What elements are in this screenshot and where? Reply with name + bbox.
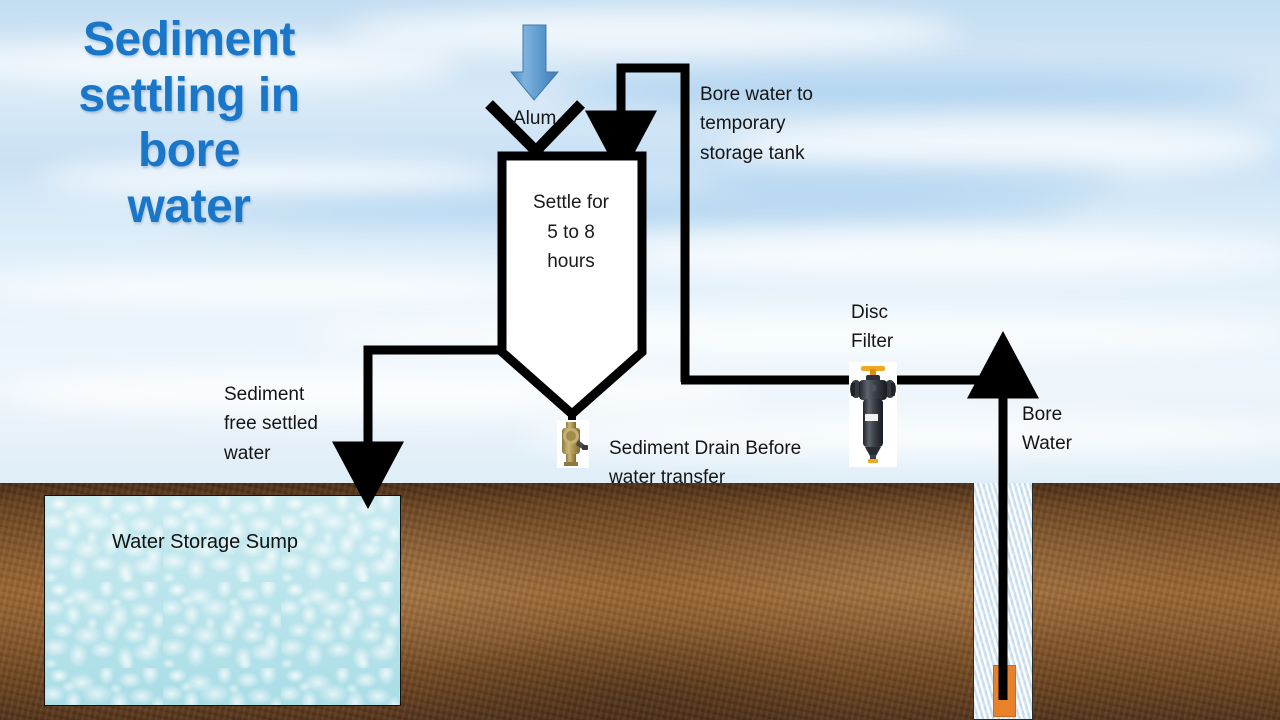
title-line-3: bore	[24, 123, 354, 179]
bore-water-line-2: Water	[1022, 429, 1132, 458]
disc-filter-line-1: Disc	[851, 298, 941, 327]
sediment-free-line-2: free settled	[224, 409, 364, 438]
title-line-1: Sediment	[24, 12, 354, 68]
cloud-wisp	[0, 268, 580, 308]
bore-to-tank-line-3: storage tank	[700, 139, 890, 168]
sediment-free-water-label: Sediment free settled water	[224, 380, 364, 468]
water-storage-sump-label: Water Storage Sump	[112, 531, 298, 554]
bore-water-label: Bore Water	[1022, 400, 1132, 459]
disc-filter	[849, 362, 897, 467]
alum-label: Alum	[513, 104, 556, 133]
disc-filter-line-2: Filter	[851, 327, 941, 356]
settle-line-1: Settle for	[505, 188, 637, 218]
page-title: Sediment settling in bore water	[24, 12, 354, 235]
settle-line-3: hours	[505, 247, 637, 277]
sediment-free-line-1: Sediment	[224, 380, 364, 409]
sediment-free-line-3: water	[224, 439, 364, 468]
cloud-wisp	[300, 312, 1280, 356]
bore-water-line-1: Bore	[1022, 400, 1132, 429]
disc-filter-graphic	[849, 362, 897, 467]
bore-to-tank-line-1: Bore water to	[700, 80, 890, 109]
sump-water-texture	[45, 496, 400, 705]
submersible-bore-pump	[993, 665, 1016, 717]
sediment-drain-line-2: water transfer	[609, 463, 859, 492]
cloud-wisp	[600, 230, 1280, 278]
cloud-wisp	[700, 168, 1120, 194]
title-line-4: water	[24, 179, 354, 235]
disc-filter-label: Disc Filter	[851, 298, 941, 357]
bore-to-tank-line-2: temporary	[700, 109, 890, 138]
cloud-wisp	[560, 72, 1260, 112]
bore-water-to-tank-label: Bore water to temporary storage tank	[700, 80, 890, 168]
sediment-drain-label: Sediment Drain Before water transfer	[609, 434, 859, 493]
sediment-drain-line-1: Sediment Drain Before	[609, 434, 859, 463]
settle-line-2: 5 to 8	[505, 218, 637, 248]
cloud-wisp	[340, 10, 960, 54]
water-storage-sump	[44, 495, 401, 706]
cloud-wisp	[0, 368, 760, 418]
sediment-drain-valve	[557, 420, 589, 468]
title-line-2: settling in	[24, 68, 354, 124]
settling-tank-label: Settle for 5 to 8 hours	[505, 188, 637, 277]
drain-valve-graphic	[557, 420, 589, 468]
diagram-canvas: Sediment settling in bore water Water St…	[0, 0, 1280, 720]
